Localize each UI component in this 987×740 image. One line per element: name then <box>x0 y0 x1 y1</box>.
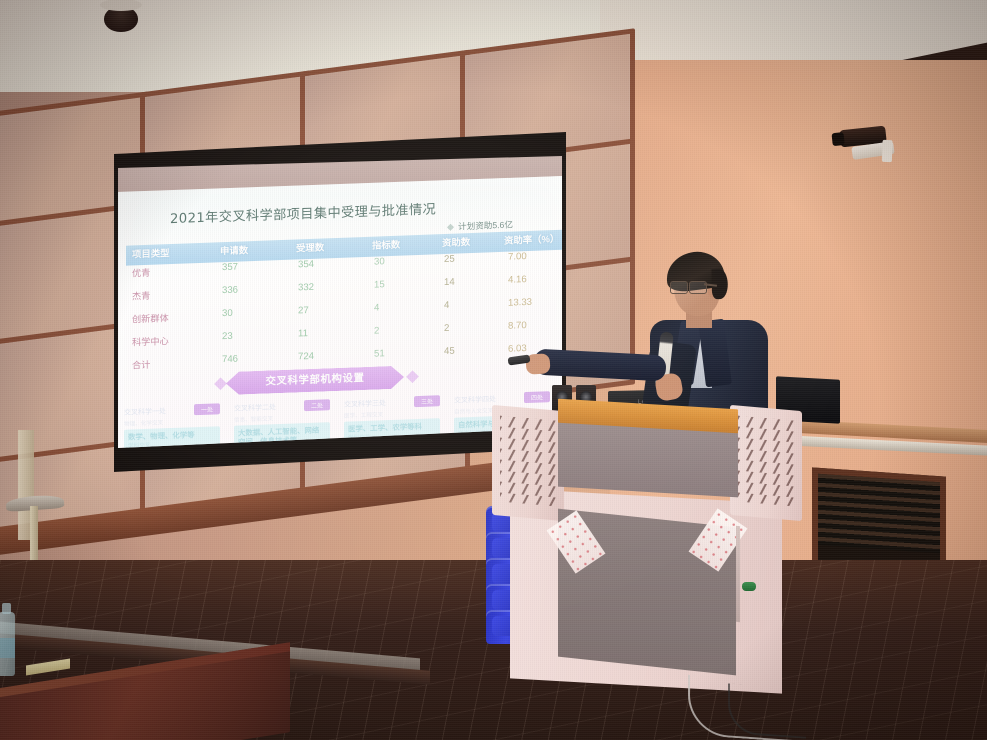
table-cell-accepted: 724 <box>298 351 314 363</box>
slide-data-table: 项目类型 申请数 受理数 指标数 资助数 资助率（%） 优青 357 354 3… <box>126 230 562 381</box>
table-cell-quota: 30 <box>374 256 385 267</box>
water-bottle <box>0 612 15 676</box>
table-cell-funded: 2 <box>444 323 449 334</box>
department-name: 交叉科学三处 <box>344 398 386 410</box>
lectern-front-upper <box>558 421 738 498</box>
table-cell-quota: 15 <box>374 279 385 290</box>
table-cell-applied: 336 <box>222 285 238 297</box>
department-subtitle: 医学、工程交叉 <box>344 410 383 419</box>
table-cell-quota: 51 <box>374 348 385 359</box>
table-cell-type: 优青 <box>132 265 150 280</box>
department-column: 交叉科学二处 二处 信息、智能交叉 大数据、人工智能、网络空间、信息技术等 学科… <box>234 400 334 415</box>
table-cell-accepted: 27 <box>298 305 309 316</box>
table-cell-accepted: 332 <box>298 282 314 294</box>
table-header-cell: 资助率（%） <box>504 231 559 247</box>
table-cell-funded: 25 <box>444 254 455 265</box>
table-header-cell: 资助数 <box>442 234 470 249</box>
glasses-icon <box>670 281 710 293</box>
table-cell-accepted: 354 <box>298 259 314 271</box>
table-cell-funded: 4 <box>444 300 449 311</box>
department-tag: 二处 <box>304 399 330 411</box>
department-subtitle: 信息、智能交叉 <box>234 414 273 423</box>
department-column: 交叉科学三处 三处 医学、工程交叉 医学、工学、农学等科 学科交叉 <box>344 396 444 411</box>
lectern-door-handle[interactable] <box>742 582 756 591</box>
department-tag: 三处 <box>414 395 440 407</box>
lectern-right-panel <box>730 405 802 521</box>
table-cell-funded: 45 <box>444 346 455 357</box>
floor-lamp-pole <box>30 506 38 566</box>
department-subtitle: 自然与人文交叉 <box>454 406 493 415</box>
table-cell-quota: 2 <box>374 325 379 336</box>
table-cell-rate: 4.16 <box>508 274 527 286</box>
lectern <box>492 396 802 696</box>
diamond-bullet-icon <box>447 224 454 231</box>
department-name: 交叉科学二处 <box>234 402 276 414</box>
lectern-left-panel <box>492 405 564 521</box>
table-cell-applied: 23 <box>222 331 233 342</box>
table-cell-applied: 30 <box>222 308 233 319</box>
table-cell-type: 合计 <box>132 357 150 372</box>
banner-diamond-icon <box>214 377 227 390</box>
table-cell-type: 创新群体 <box>132 310 169 325</box>
slide-title: 2021年交叉科学部项目集中受理与批准情况 <box>170 198 436 227</box>
department-name: 交叉科学四处 <box>454 394 496 406</box>
table-header-cell: 项目类型 <box>132 245 170 260</box>
table-cell-quota: 4 <box>374 302 379 313</box>
banner-diamond-icon <box>406 370 419 383</box>
slide-funding-note-text: 计划资助5.6亿 <box>458 220 513 232</box>
table-cell-accepted: 11 <box>298 328 308 339</box>
dome-camera-icon <box>104 6 138 32</box>
table-cell-type: 科学中心 <box>132 333 169 348</box>
department-name: 交叉科学一处 <box>124 406 166 418</box>
lectern-door-seam <box>736 526 740 622</box>
department-tag: 一处 <box>194 403 220 415</box>
table-cell-funded: 14 <box>444 277 455 288</box>
presentation-photo: 2021年交叉科学部项目集中受理与批准情况 计划资助5.6亿 项目类型 申请数 … <box>0 0 987 740</box>
department-subtitle: 物理、化学交叉 <box>124 418 163 427</box>
table-cell-type: 杰青 <box>132 288 150 303</box>
department-column: 交叉科学一处 一处 物理、化学交叉 数学、物理、化学等 学科交叉 <box>124 404 224 419</box>
table-cell-rate: 7.00 <box>508 251 527 263</box>
table-header-cell: 申请数 <box>220 242 248 257</box>
table-cell-rate: 6.03 <box>508 343 527 355</box>
table-cell-applied: 746 <box>222 354 238 366</box>
table-cell-rate: 13.33 <box>508 297 532 309</box>
table-cell-rate: 8.70 <box>508 320 527 332</box>
table-cell-applied: 357 <box>222 262 238 274</box>
slide-funding-note: 计划资助5.6亿 <box>448 219 513 233</box>
table-header-cell: 受理数 <box>296 239 324 254</box>
table-header-cell: 指标数 <box>372 237 400 252</box>
